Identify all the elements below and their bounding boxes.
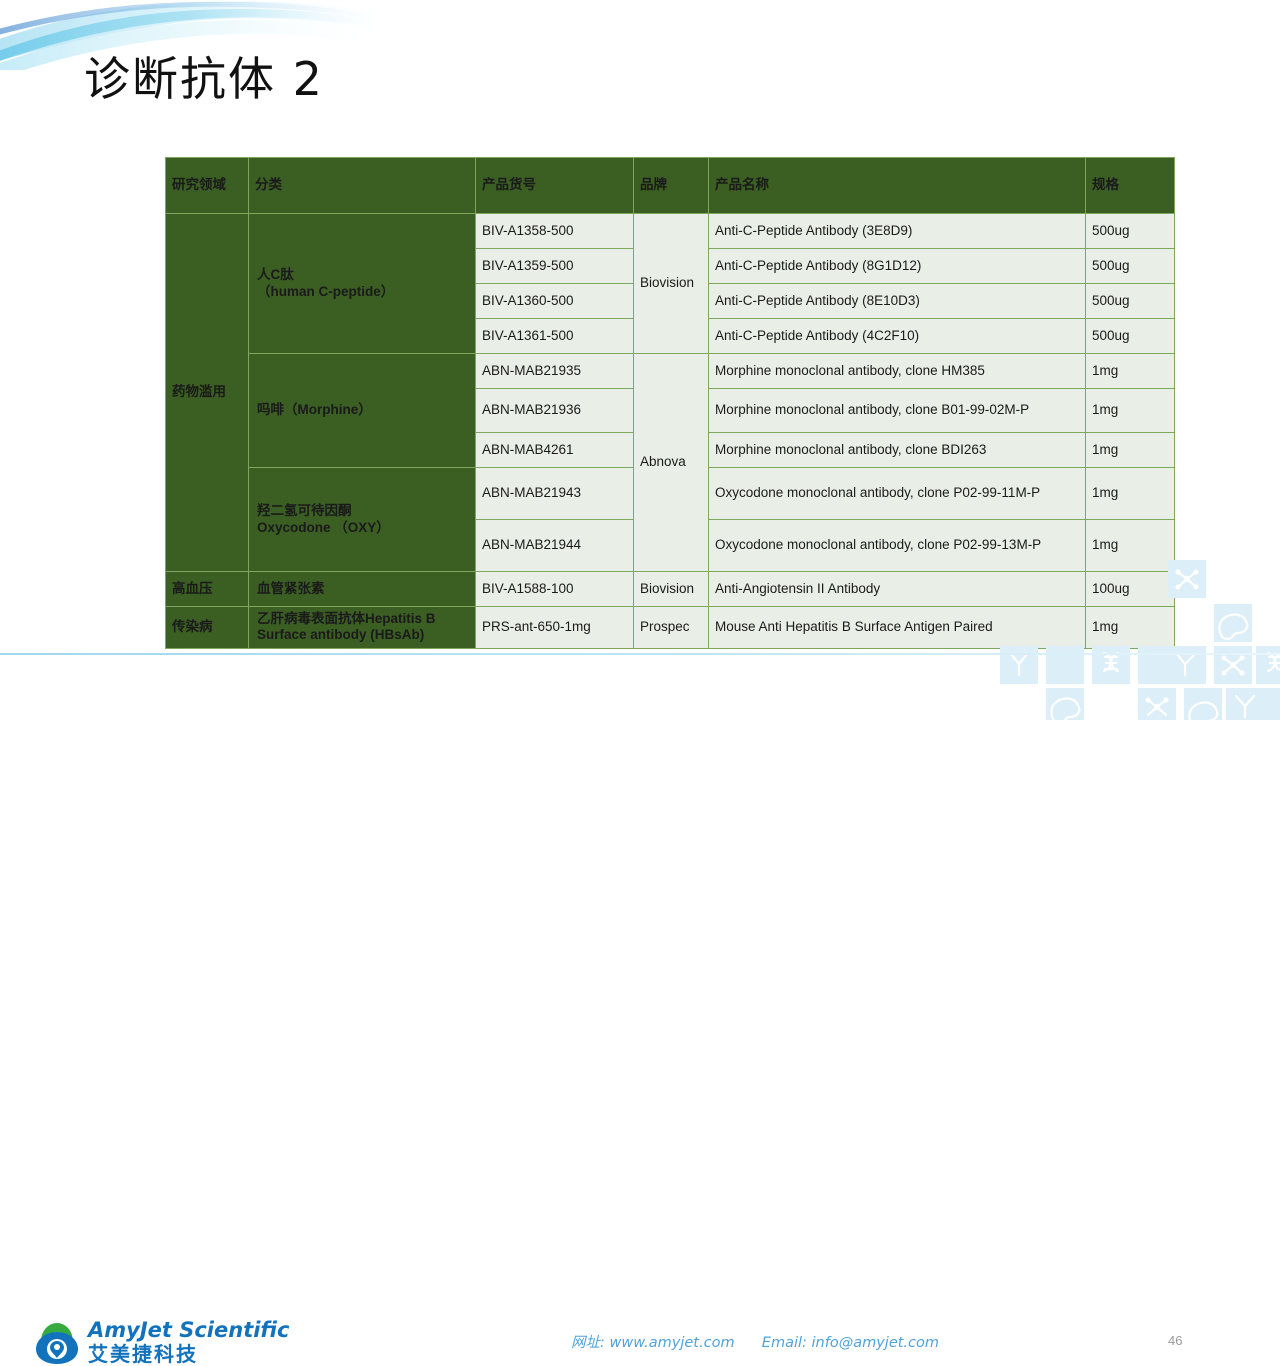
cell-category: 人C肽 （human C-peptide） bbox=[249, 214, 476, 354]
brand-name-cn: 艾美捷科技 bbox=[88, 1343, 289, 1365]
cell-product: Mouse Anti Hepatitis B Surface Antigen P… bbox=[709, 607, 1086, 649]
cell-catalog: BIV-A1588-100 bbox=[476, 572, 634, 607]
cell-catalog: PRS-ant-650-1mg bbox=[476, 607, 634, 649]
brand-name-en: AmyJet Scientific bbox=[88, 1319, 289, 1341]
cell-category: 血管紧张素 bbox=[249, 572, 476, 607]
cell-product: Oxycodone monoclonal antibody, clone P02… bbox=[709, 468, 1086, 520]
cell-spec: 100ug bbox=[1086, 572, 1175, 607]
cell-catalog: ABN-MAB21944 bbox=[476, 520, 634, 572]
cell-spec: 500ug bbox=[1086, 284, 1175, 319]
amyjet-logo-icon bbox=[33, 1320, 81, 1366]
cell-brand: Prospec bbox=[634, 607, 709, 649]
cell-catalog: BIV-A1361-500 bbox=[476, 319, 634, 354]
cell-catalog: ABN-MAB4261 bbox=[476, 433, 634, 468]
website-url[interactable]: www.amyjet.com bbox=[610, 1335, 735, 1351]
email-address[interactable]: info@amyjet.com bbox=[812, 1335, 940, 1351]
page-number: 46 bbox=[1168, 1333, 1182, 1348]
column-header-product: 产品名称 bbox=[709, 158, 1086, 214]
cell-category: 吗啡（Morphine） bbox=[249, 354, 476, 468]
cell-product: Anti-C-Peptide Antibody (3E8D9) bbox=[709, 214, 1086, 249]
cell-product: Anti-C-Peptide Antibody (4C2F10) bbox=[709, 319, 1086, 354]
email-label: Email: bbox=[762, 1335, 807, 1351]
table-row: 吗啡（Morphine） ABN-MAB21935 Abnova Morphin… bbox=[166, 354, 1175, 389]
column-header-catalog: 产品货号 bbox=[476, 158, 634, 214]
cell-product: Morphine monoclonal antibody, clone B01-… bbox=[709, 389, 1086, 433]
table-row: 高血压 血管紧张素 BIV-A1588-100 Biovision Anti-A… bbox=[166, 572, 1175, 607]
cell-spec: 1mg bbox=[1086, 389, 1175, 433]
column-header-spec: 规格 bbox=[1086, 158, 1175, 214]
product-table-container: 研究领域 分类 产品货号 品牌 产品名称 规格 药物滥用 人C肽 （human … bbox=[165, 157, 1174, 649]
cell-product: Anti-C-Peptide Antibody (8G1D12) bbox=[709, 249, 1086, 284]
table-row: 传染病 乙肝病毒表面抗体Hepatitis B Surface antibody… bbox=[166, 607, 1175, 649]
cell-product: Oxycodone monoclonal antibody, clone P02… bbox=[709, 520, 1086, 572]
slide: 诊断抗体 2 研究领域 分类 产品货号 品牌 产品名称 规格 药物滥用 bbox=[0, 0, 1280, 720]
cell-field: 高血压 bbox=[166, 572, 249, 607]
cell-spec: 1mg bbox=[1086, 607, 1175, 649]
cell-catalog: ABN-MAB21935 bbox=[476, 354, 634, 389]
cell-product: Morphine monoclonal antibody, clone HM38… bbox=[709, 354, 1086, 389]
cell-field: 传染病 bbox=[166, 607, 249, 649]
cell-catalog: ABN-MAB21936 bbox=[476, 389, 634, 433]
product-table: 研究领域 分类 产品货号 品牌 产品名称 规格 药物滥用 人C肽 （human … bbox=[165, 157, 1175, 649]
table-row: 药物滥用 人C肽 （human C-peptide） BIV-A1358-500… bbox=[166, 214, 1175, 249]
cell-spec: 1mg bbox=[1086, 433, 1175, 468]
cell-spec: 500ug bbox=[1086, 214, 1175, 249]
footer-contact: 网址: www.amyjet.com Email: info@amyjet.co… bbox=[571, 1331, 939, 1352]
brand-lockup: AmyJet Scientific 艾美捷科技 bbox=[88, 1319, 289, 1365]
cell-product: Anti-Angiotensin II Antibody bbox=[709, 572, 1086, 607]
cell-brand: Biovision bbox=[634, 214, 709, 354]
footer: AmyJet Scientific 艾美捷科技 网址: www.amyjet.c… bbox=[0, 655, 1280, 720]
column-header-brand: 品牌 bbox=[634, 158, 709, 214]
cell-category: 乙肝病毒表面抗体Hepatitis B Surface antibody (HB… bbox=[249, 607, 476, 649]
cell-spec: 500ug bbox=[1086, 249, 1175, 284]
cell-spec: 500ug bbox=[1086, 319, 1175, 354]
cell-product: Morphine monoclonal antibody, clone BDI2… bbox=[709, 433, 1086, 468]
cell-spec: 1mg bbox=[1086, 468, 1175, 520]
cell-brand: Abnova bbox=[634, 354, 709, 572]
page-title: 诊断抗体 2 bbox=[84, 43, 324, 109]
cell-category: 羟二氢可待因酮 Oxycodone （OXY） bbox=[249, 468, 476, 572]
cell-field: 药物滥用 bbox=[166, 214, 249, 572]
table-header-row: 研究领域 分类 产品货号 品牌 产品名称 规格 bbox=[166, 158, 1175, 214]
column-header-field: 研究领域 bbox=[166, 158, 249, 214]
website-label: 网址: bbox=[571, 1335, 605, 1351]
cell-catalog: ABN-MAB21943 bbox=[476, 468, 634, 520]
cell-catalog: BIV-A1359-500 bbox=[476, 249, 634, 284]
column-header-category: 分类 bbox=[249, 158, 476, 214]
cell-spec: 1mg bbox=[1086, 520, 1175, 572]
cell-product: Anti-C-Peptide Antibody (8E10D3) bbox=[709, 284, 1086, 319]
cell-catalog: BIV-A1360-500 bbox=[476, 284, 634, 319]
cell-spec: 1mg bbox=[1086, 354, 1175, 389]
cell-brand: Biovision bbox=[634, 572, 709, 607]
cell-catalog: BIV-A1358-500 bbox=[476, 214, 634, 249]
